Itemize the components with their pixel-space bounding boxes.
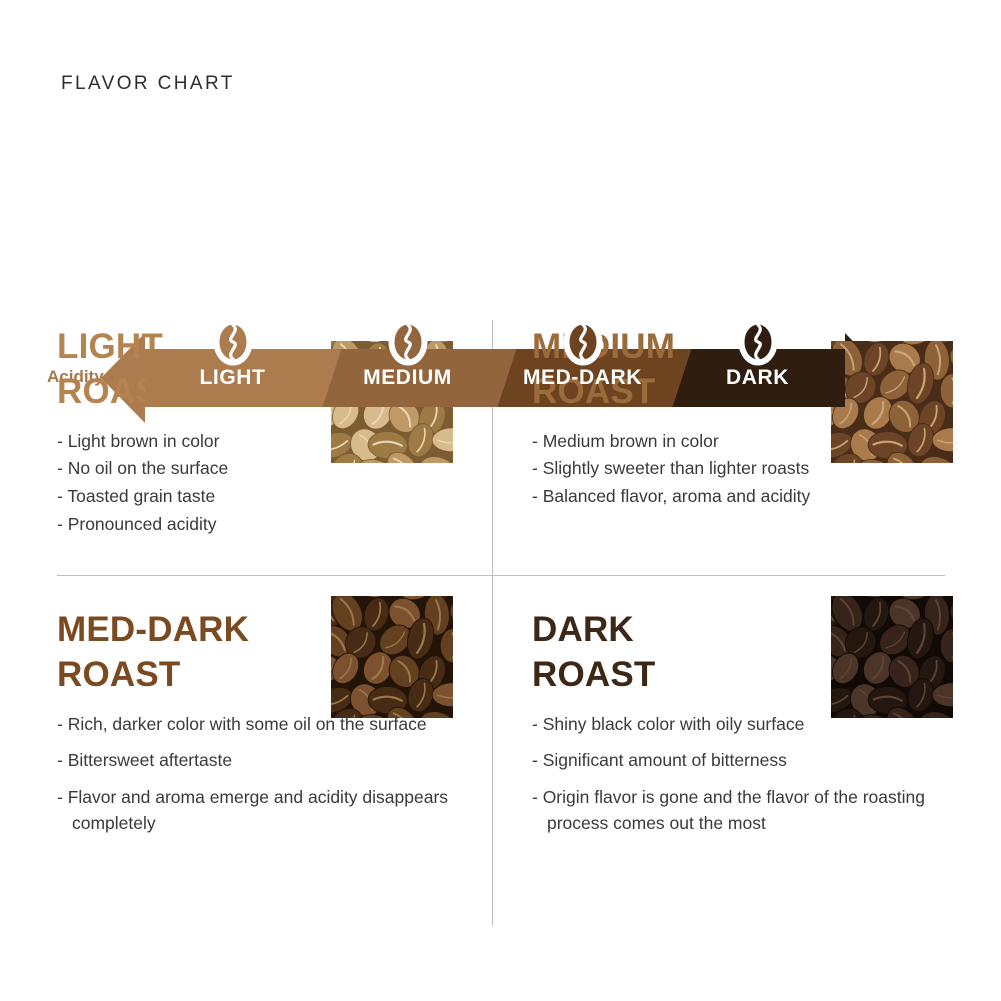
bullet-item: - Bittersweet aftertaste	[57, 748, 477, 774]
coffee-bean-icon	[561, 320, 605, 368]
bullet-item: - Light brown in color	[57, 429, 477, 455]
quadrant-bullet-list: - Shiny black color with oily surface- S…	[532, 712, 952, 838]
bullet-item: - Toasted grain taste	[57, 484, 477, 510]
coffee-bean-icon	[211, 320, 255, 368]
bullet-item: - Shiny black color with oily surface	[532, 712, 952, 738]
quadrant-bullet-list: - Medium brown in color- Slightly sweete…	[532, 429, 952, 511]
quadrant-bullet-list: - Light brown in color- No oil on the su…	[57, 429, 477, 539]
quadrant-heading: DARK ROAST	[532, 608, 952, 698]
quadrant-bullet-list: - Rich, darker color with some oil on th…	[57, 712, 477, 838]
roast-scale: Acidity Bitterness LIGHTMEDIUMMED-DARKDA…	[0, 160, 1001, 275]
bullet-item: - Significant amount of bitterness	[532, 748, 952, 774]
quadrant-med-dark-roast: MED-DARK ROAST - Rich, darker color with…	[57, 608, 477, 848]
bullet-item: - Origin flavor is gone and the flavor o…	[532, 785, 952, 837]
coffee-bean-icon	[736, 320, 780, 368]
page-title: FLAVOR CHART	[61, 73, 235, 95]
bullet-item: - Balanced flavor, aroma and acidity	[532, 484, 952, 510]
bullet-item: - Flavor and aroma emerge and acidity di…	[57, 785, 477, 837]
bullet-item: - Pronounced acidity	[57, 512, 477, 538]
quadrant-divider-vertical	[492, 320, 493, 926]
bullet-item: - Medium brown in color	[532, 429, 952, 455]
bullet-item: - Rich, darker color with some oil on th…	[57, 712, 477, 738]
quadrant-dark-roast: DARK ROAST - Shiny black color with oily…	[532, 608, 952, 848]
quadrant-divider-horizontal	[57, 575, 945, 576]
bullet-item: - Slightly sweeter than lighter roasts	[532, 456, 952, 482]
coffee-bean-icon	[386, 320, 430, 368]
quadrant-heading: MED-DARK ROAST	[57, 608, 477, 698]
bullet-item: - No oil on the surface	[57, 456, 477, 482]
roast-scale-bar: LIGHTMEDIUMMED-DARKDARK	[145, 349, 845, 407]
